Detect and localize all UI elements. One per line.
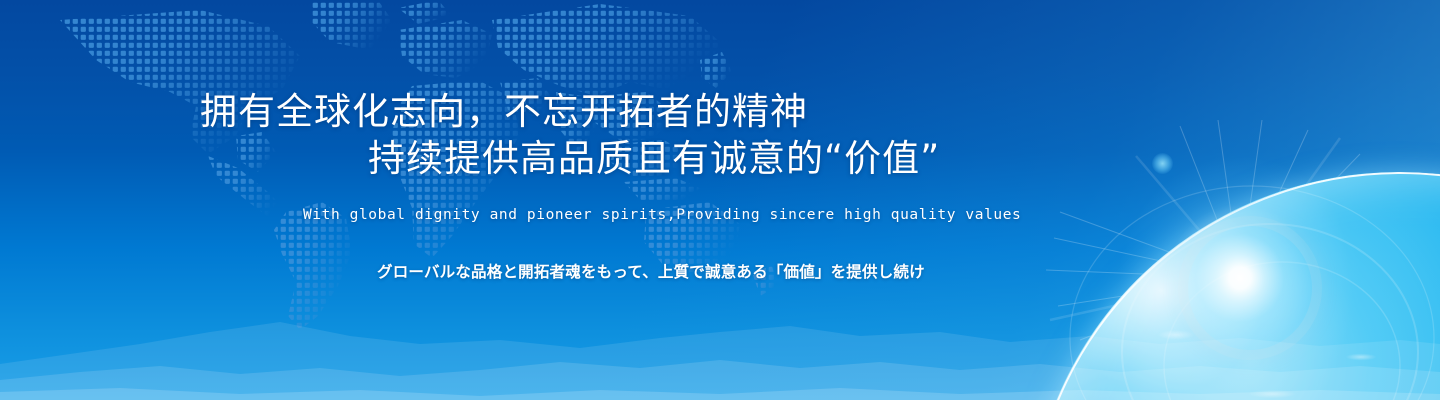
globe-orbit-arcs	[1020, 140, 1440, 400]
headline-line-1: 拥有全球化志向，不忘开拓者的精神	[200, 93, 808, 130]
dot-matrix-world-map	[0, 0, 800, 346]
globe-surface-texture	[1028, 172, 1440, 400]
lens-flare-orb	[1152, 153, 1173, 174]
earth-globe	[1020, 140, 1440, 400]
headline-line-2: 持续提供高品质且有诚意的“价值”	[368, 140, 940, 177]
lens-flare-halo	[1178, 216, 1322, 360]
hero-banner: 拥有全球化志向，不忘开拓者的精神 持续提供高品质且有诚意的“价值” With g…	[0, 0, 1440, 400]
banner-copy: 拥有全球化志向，不忘开拓者的精神 持续提供高品质且有诚意的“价值” With g…	[0, 0, 1000, 400]
diagonal-glow-overlay	[0, 0, 1440, 400]
subline-japanese: グローバルな品格と開拓者魂をもって、上質で誠意ある「価値」を提供し続け	[377, 260, 925, 282]
subline-english: With global dignity and pioneer spirits,…	[303, 207, 1021, 223]
globe-body	[1028, 172, 1440, 400]
globe-atmosphere-rim	[1028, 172, 1440, 400]
sun-flare-rays	[1040, 120, 1440, 400]
mountain-silhouette	[0, 310, 1440, 400]
